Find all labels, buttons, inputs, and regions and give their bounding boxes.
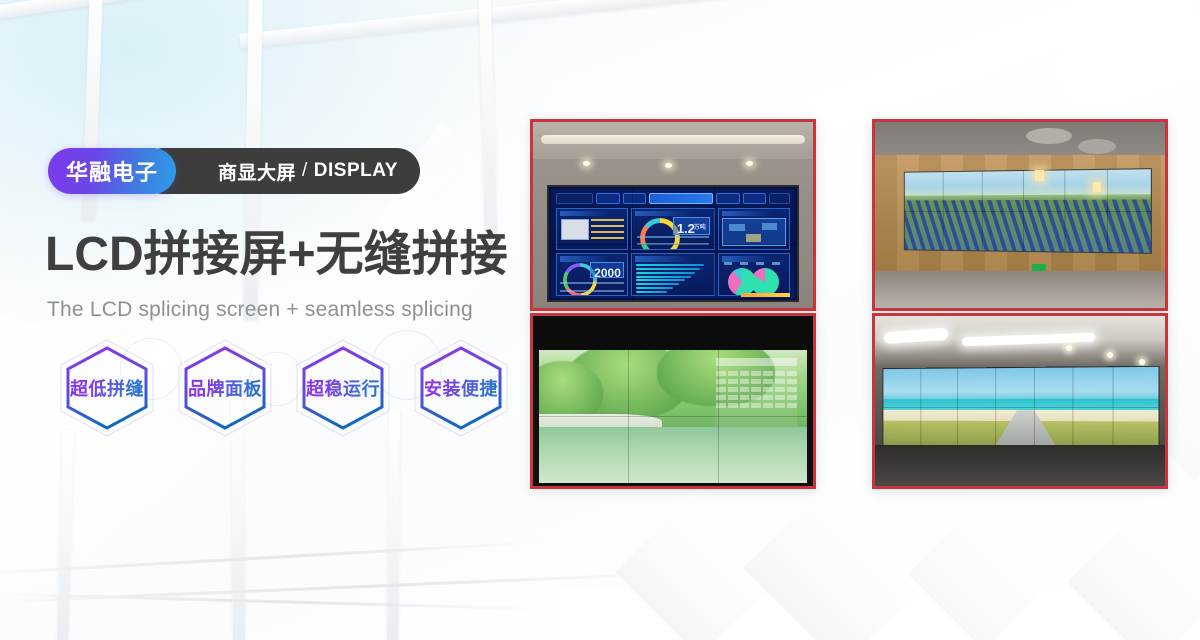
lcd-video-wall bbox=[904, 169, 1152, 255]
downlight bbox=[746, 161, 753, 166]
lcd-video-wall bbox=[539, 350, 808, 483]
panel-seam bbox=[549, 244, 797, 245]
calendar-row bbox=[716, 403, 797, 408]
dashboard-card-count: 2000 bbox=[556, 253, 628, 296]
background-floor-line-1 bbox=[0, 540, 550, 574]
background-beam-lower-1 bbox=[57, 430, 73, 640]
product-photo-control-room-dashboard: 1.2 万吨 bbox=[530, 119, 816, 311]
panel-seam bbox=[883, 407, 1159, 408]
background-diamond-4 bbox=[1067, 497, 1200, 640]
flow-node bbox=[729, 224, 745, 232]
count-panel: 2000 bbox=[590, 262, 624, 278]
feature-item-2: 超稳运行 bbox=[284, 332, 402, 444]
card-header bbox=[722, 211, 771, 217]
product-photo-solar-farm-video-wall bbox=[872, 119, 1168, 311]
feature-list: 超低拼缝 品牌面板 bbox=[48, 332, 520, 444]
bar bbox=[636, 276, 691, 278]
bar bbox=[636, 272, 696, 274]
dashboard-title-tab bbox=[649, 193, 713, 203]
dashboard-grid: 1.2 万吨 bbox=[556, 208, 790, 296]
bar bbox=[636, 291, 667, 293]
dashboard-card-pies bbox=[718, 253, 790, 296]
category-label-en: DISPLAY bbox=[314, 160, 398, 182]
panel-seam bbox=[539, 416, 808, 417]
ceiling-vent bbox=[1078, 139, 1116, 154]
floor bbox=[875, 445, 1165, 486]
dashboard-tab bbox=[623, 193, 646, 203]
dashboard-header bbox=[556, 191, 790, 205]
upper-bezel bbox=[533, 316, 813, 350]
bar bbox=[636, 287, 673, 289]
feature-item-3: 安装便捷 bbox=[402, 332, 520, 444]
feature-label: 安装便捷 bbox=[424, 375, 498, 401]
calendar-row bbox=[716, 387, 797, 392]
metric-value: 1.2 bbox=[677, 221, 695, 236]
metric-value: 2000 bbox=[594, 266, 621, 280]
background-diamond-1 bbox=[615, 487, 785, 640]
card-header bbox=[560, 211, 609, 217]
category-badge: 商显大屏 / DISPLAY bbox=[140, 148, 420, 194]
bar bbox=[636, 283, 679, 285]
background-diamond-3 bbox=[908, 498, 1061, 640]
flow-node bbox=[762, 223, 777, 230]
background-beam-horizontal-1 bbox=[0, 0, 396, 22]
flow-diagram bbox=[722, 218, 785, 246]
card-text-lines bbox=[591, 219, 623, 239]
dashboard-user bbox=[769, 193, 790, 203]
dashboard-tab bbox=[716, 193, 739, 203]
metric-unit: 万吨 bbox=[694, 222, 706, 231]
card-header bbox=[635, 211, 692, 217]
dashboard-tab bbox=[596, 193, 619, 203]
downlight bbox=[1107, 352, 1113, 358]
card-thumbnail bbox=[561, 219, 589, 240]
calendar-title bbox=[716, 358, 797, 366]
promo-banner: 商显大屏 / DISPLAY 华融电子 LCD拼接屏+无缝拼接 The LCD … bbox=[0, 0, 1200, 640]
page-subtitle: The LCD splicing screen + seamless splic… bbox=[47, 298, 473, 322]
dashboard-tab bbox=[743, 193, 766, 203]
background-diamond-2 bbox=[743, 469, 941, 640]
background-floor-line-2 bbox=[0, 571, 690, 603]
product-photo-willow-lake-video-wall bbox=[530, 313, 816, 489]
feature-item-1: 品牌面板 bbox=[166, 332, 284, 444]
background-white-floor bbox=[560, 590, 1200, 640]
flow-node bbox=[746, 234, 761, 242]
calendar-row bbox=[716, 371, 797, 376]
category-separator: / bbox=[302, 160, 308, 182]
metric-panel: 1.2 万吨 bbox=[673, 217, 710, 235]
feature-item-0: 超低拼缝 bbox=[48, 332, 166, 444]
brand-badge: 商显大屏 / DISPLAY 华融电子 bbox=[48, 148, 176, 194]
bar bbox=[636, 279, 685, 281]
feature-label: 超低拼缝 bbox=[70, 375, 144, 401]
background-floor-line-3 bbox=[0, 592, 540, 610]
legend bbox=[637, 236, 709, 247]
cove-light bbox=[541, 135, 804, 144]
card-header bbox=[635, 256, 692, 262]
feature-label: 品牌面板 bbox=[188, 375, 262, 401]
downlight bbox=[1139, 359, 1145, 365]
lake-water bbox=[539, 427, 808, 483]
wall-sconce bbox=[1035, 170, 1044, 181]
lcd-video-wall: 1.2 万吨 bbox=[547, 185, 799, 302]
exit-sign-icon bbox=[1032, 264, 1046, 271]
product-photo-beach-boardwalk-video-wall bbox=[872, 313, 1168, 489]
dashboard-ticker bbox=[741, 293, 790, 297]
bar bbox=[636, 268, 700, 270]
bar-chart bbox=[636, 263, 711, 293]
downlight bbox=[665, 163, 672, 168]
feature-label: 超稳运行 bbox=[306, 375, 380, 401]
lcd-video-wall bbox=[882, 366, 1160, 448]
bar bbox=[636, 264, 705, 266]
pie-legend bbox=[724, 262, 783, 266]
floor bbox=[875, 271, 1165, 308]
dashboard-card-ranking bbox=[631, 253, 714, 296]
calendar-row bbox=[716, 379, 797, 384]
dashboard-timestamp bbox=[556, 193, 593, 203]
background-beam-horizontal-2 bbox=[239, 0, 798, 49]
calendar-row bbox=[716, 395, 797, 400]
brand-name-pill: 华融电子 bbox=[48, 148, 176, 194]
legend bbox=[560, 282, 623, 293]
background-beam-lower-3 bbox=[387, 410, 400, 640]
page-title: LCD拼接屏+无缝拼接 bbox=[45, 230, 508, 280]
category-label-cn: 商显大屏 bbox=[218, 158, 296, 185]
wall-sconce bbox=[1093, 182, 1101, 192]
